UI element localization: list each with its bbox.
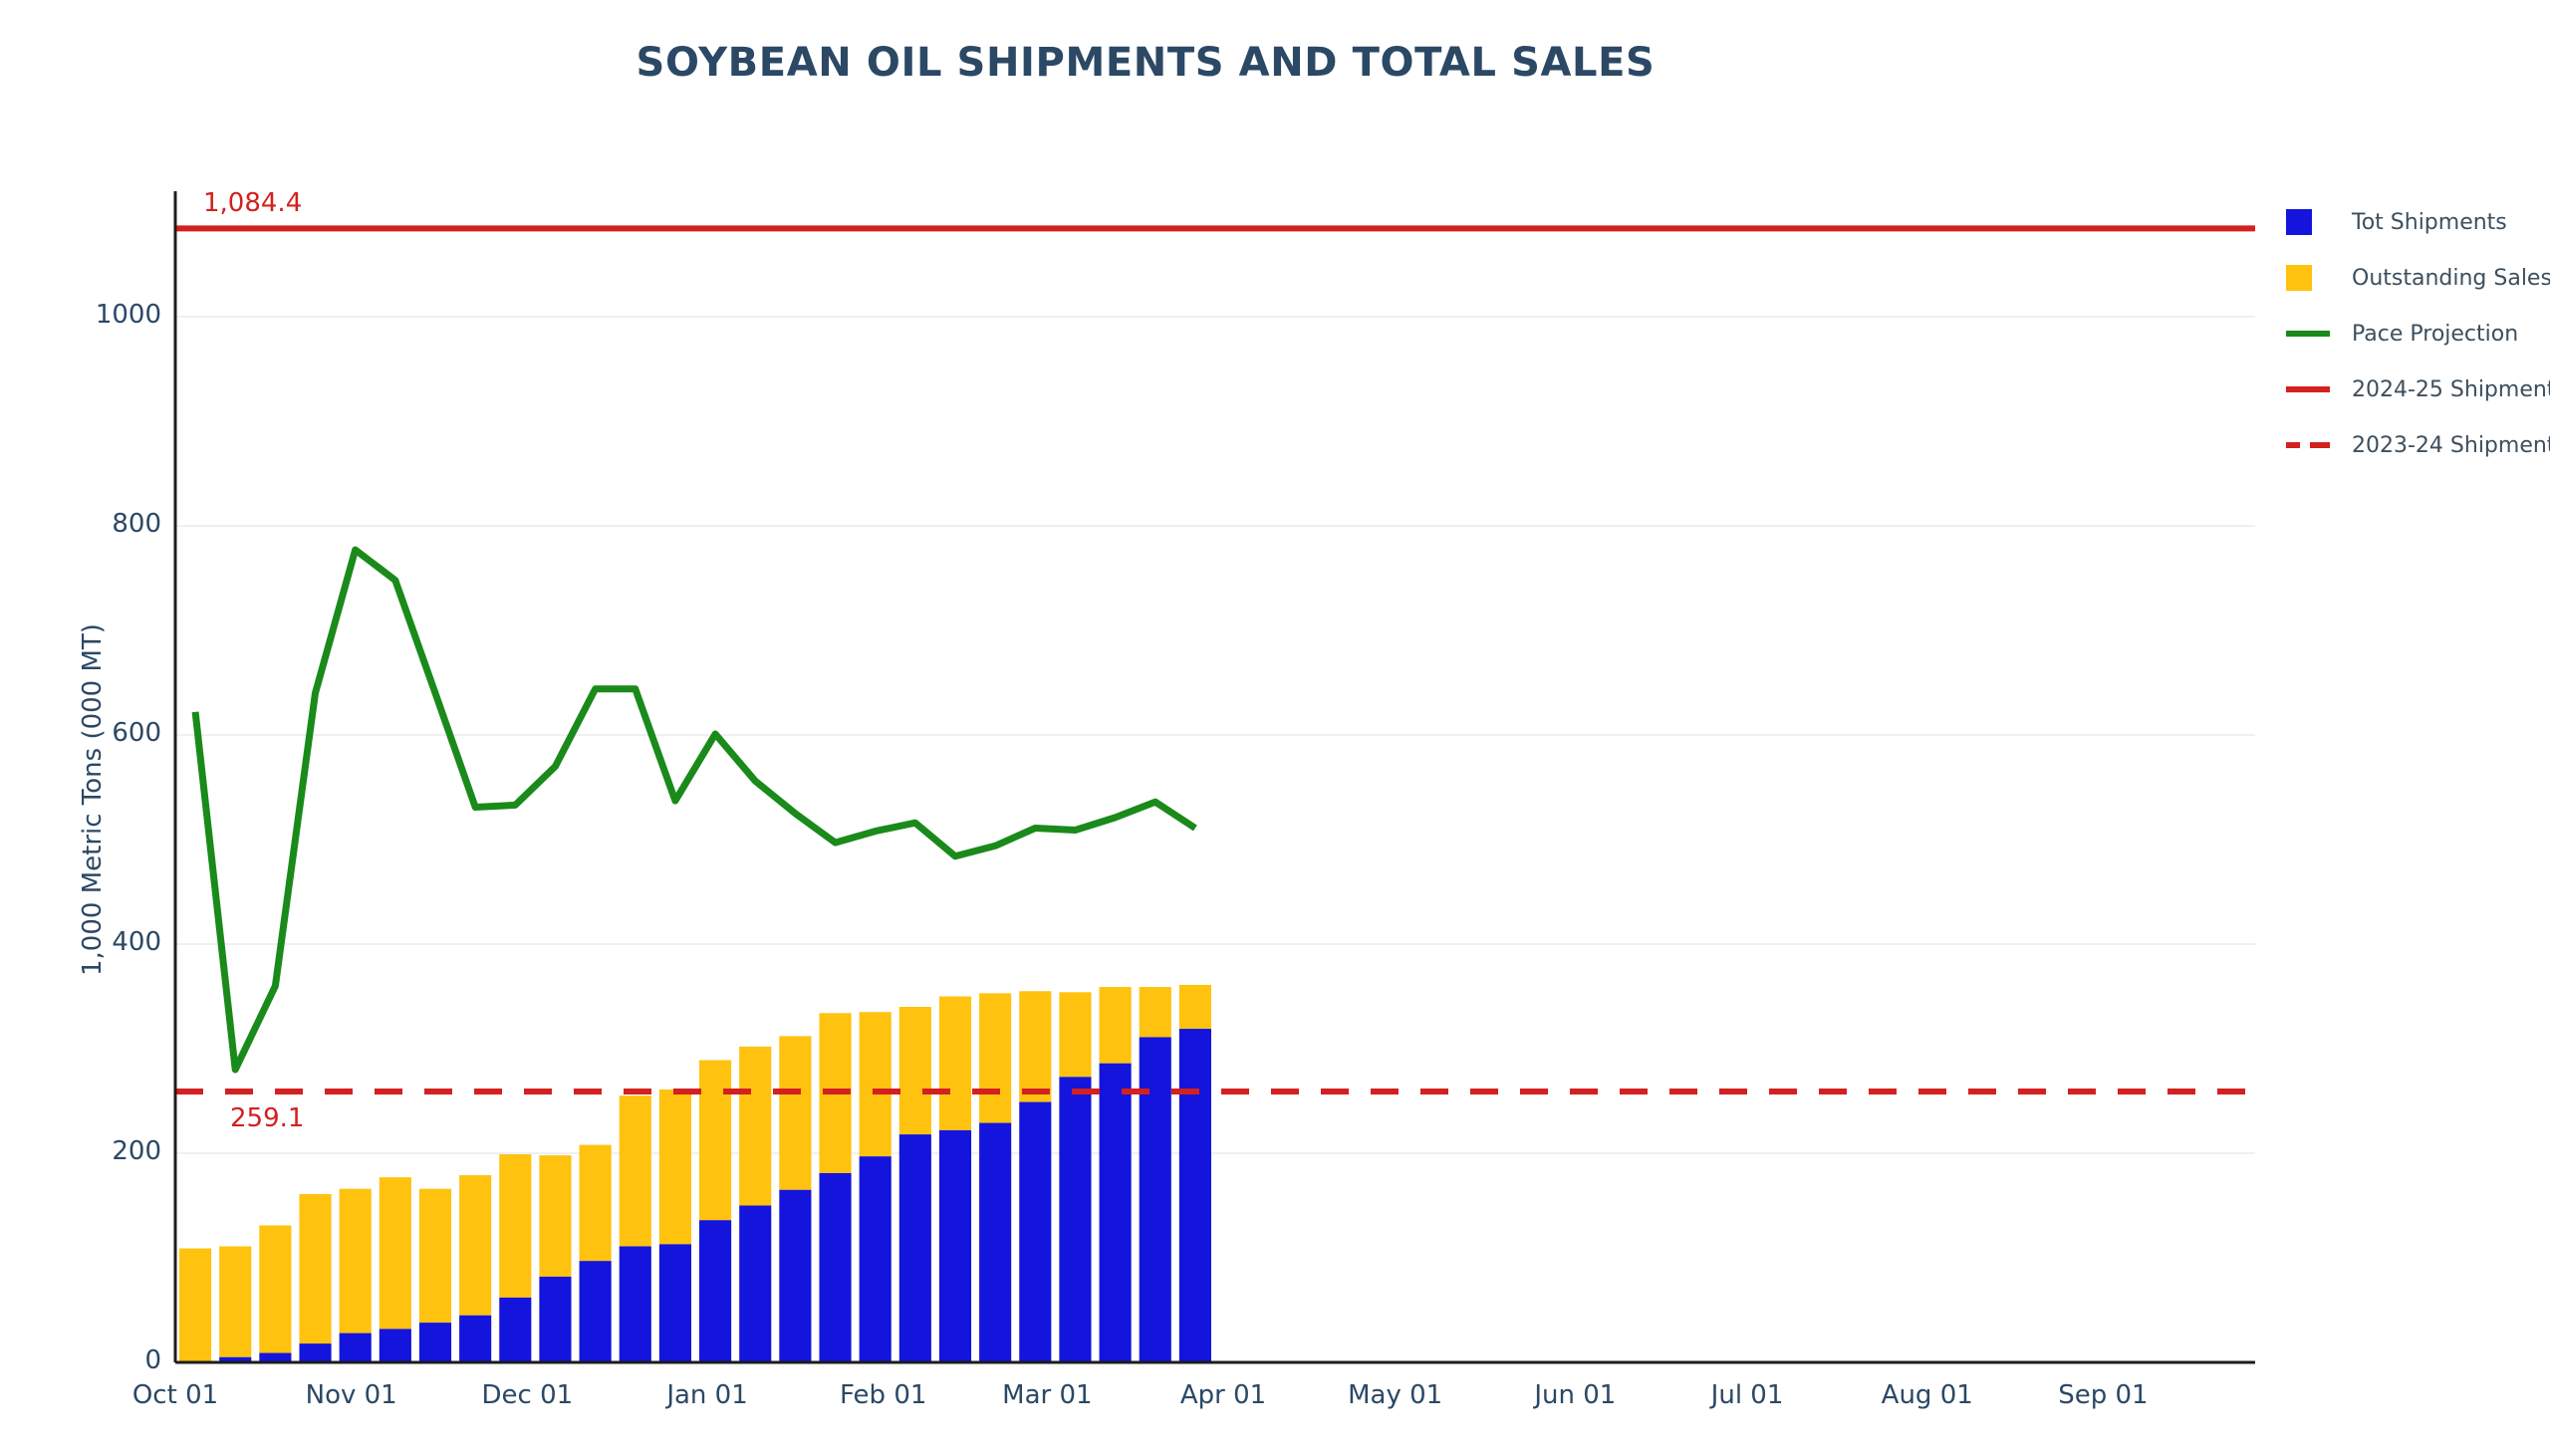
legend-item[interactable]: Outstanding Sales xyxy=(2286,250,2550,306)
bar-segment-outstanding-sales xyxy=(179,1249,211,1361)
bar-segment-tot-shipments xyxy=(620,1246,651,1362)
bar-segment-tot-shipments xyxy=(1140,1037,1171,1362)
bar-segment-tot-shipments xyxy=(459,1316,491,1362)
blue-square-icon xyxy=(2286,209,2342,235)
bar-segment-outstanding-sales xyxy=(1179,985,1211,1029)
bar-segment-tot-shipments xyxy=(419,1323,451,1362)
bar-segment-outstanding-sales xyxy=(299,1194,331,1343)
bar-segment-outstanding-sales xyxy=(1140,987,1171,1037)
bar-segment-tot-shipments xyxy=(380,1329,411,1362)
bar-segment-outstanding-sales xyxy=(499,1154,531,1298)
y-tick-label: 0 xyxy=(144,1345,161,1375)
bar-segment-outstanding-sales xyxy=(659,1090,691,1244)
bar-segment-outstanding-sales xyxy=(739,1047,771,1206)
bar-segment-outstanding-sales xyxy=(259,1225,291,1352)
green-line-icon-mark xyxy=(2286,331,2330,337)
bar-series xyxy=(179,985,1211,1362)
y-tick-label: 200 xyxy=(112,1136,161,1166)
yellow-square-icon-mark xyxy=(2286,265,2312,291)
bar-segment-tot-shipments xyxy=(899,1134,931,1362)
bar-segment-outstanding-sales xyxy=(939,997,971,1130)
bar-segment-tot-shipments xyxy=(860,1156,892,1362)
bar-segment-outstanding-sales xyxy=(860,1012,892,1156)
reference-line-lower-label: 259.1 xyxy=(230,1103,304,1133)
legend-item[interactable]: 2024-25 Shipments xyxy=(2286,362,2550,417)
bar-segment-outstanding-sales xyxy=(380,1177,411,1329)
legend-item-label: 2024-25 Shipments xyxy=(2342,377,2550,402)
bar-segment-tot-shipments xyxy=(779,1190,811,1362)
plot-area xyxy=(0,0,2550,1456)
red-dashed-line-icon xyxy=(2286,442,2342,448)
bar-segment-tot-shipments xyxy=(539,1277,571,1362)
bar-segment-outstanding-sales xyxy=(620,1095,651,1246)
bar-segment-tot-shipments xyxy=(939,1130,971,1362)
y-tick-label: 800 xyxy=(112,509,161,539)
bar-segment-tot-shipments xyxy=(699,1220,731,1362)
chart-legend: Tot ShipmentsOutstanding SalesPace Proje… xyxy=(2286,194,2550,473)
bar-segment-tot-shipments xyxy=(340,1334,372,1362)
bar-segment-tot-shipments xyxy=(1100,1064,1132,1362)
reference-line-upper-label: 1,084.4 xyxy=(203,188,302,218)
bar-segment-outstanding-sales xyxy=(899,1007,931,1134)
bar-segment-outstanding-sales xyxy=(459,1175,491,1316)
legend-item-label: Outstanding Sales xyxy=(2342,266,2550,291)
bar-segment-outstanding-sales xyxy=(340,1189,372,1334)
red-line-icon-mark xyxy=(2286,386,2330,392)
y-tick-label: 1000 xyxy=(96,300,161,330)
bar-segment-outstanding-sales xyxy=(979,993,1011,1122)
bar-segment-outstanding-sales xyxy=(539,1155,571,1277)
bar-segment-outstanding-sales xyxy=(699,1061,731,1221)
bar-segment-outstanding-sales xyxy=(219,1246,251,1356)
legend-item[interactable]: Tot Shipments xyxy=(2286,194,2550,250)
bar-segment-tot-shipments xyxy=(979,1123,1011,1362)
bar-segment-outstanding-sales xyxy=(1100,987,1132,1064)
green-line-icon xyxy=(2286,331,2342,337)
bar-segment-tot-shipments xyxy=(819,1173,851,1362)
y-tick-label: 600 xyxy=(112,718,161,748)
bar-segment-outstanding-sales xyxy=(419,1189,451,1323)
y-tick-label: 400 xyxy=(112,927,161,957)
bar-segment-tot-shipments xyxy=(659,1244,691,1362)
legend-item-label: 2023-24 Shipments xyxy=(2342,433,2550,458)
bar-segment-outstanding-sales xyxy=(1019,991,1051,1101)
bar-segment-outstanding-sales xyxy=(580,1145,612,1262)
bar-segment-tot-shipments xyxy=(1019,1102,1051,1362)
bar-segment-tot-shipments xyxy=(580,1261,612,1362)
x-tick-label: Sep 01 xyxy=(1993,1380,2212,1410)
legend-item-label: Tot Shipments xyxy=(2342,210,2507,235)
bar-segment-tot-shipments xyxy=(499,1298,531,1362)
blue-square-icon-mark xyxy=(2286,209,2312,235)
bar-segment-tot-shipments xyxy=(299,1343,331,1362)
bar-segment-tot-shipments xyxy=(739,1206,771,1363)
bar-segment-tot-shipments xyxy=(1179,1029,1211,1362)
yellow-square-icon xyxy=(2286,265,2342,291)
legend-item[interactable]: 2023-24 Shipments xyxy=(2286,417,2550,473)
bar-segment-outstanding-sales xyxy=(1059,992,1091,1077)
legend-item-label: Pace Projection xyxy=(2342,322,2518,347)
bar-segment-outstanding-sales xyxy=(779,1036,811,1189)
red-line-icon xyxy=(2286,386,2342,392)
chart-container: SOYBEAN OIL SHIPMENTS AND TOTAL SALES 1,… xyxy=(0,0,2550,1456)
red-dashed-line-icon-mark xyxy=(2286,442,2330,448)
legend-item[interactable]: Pace Projection xyxy=(2286,306,2550,362)
bar-segment-tot-shipments xyxy=(1059,1077,1091,1362)
